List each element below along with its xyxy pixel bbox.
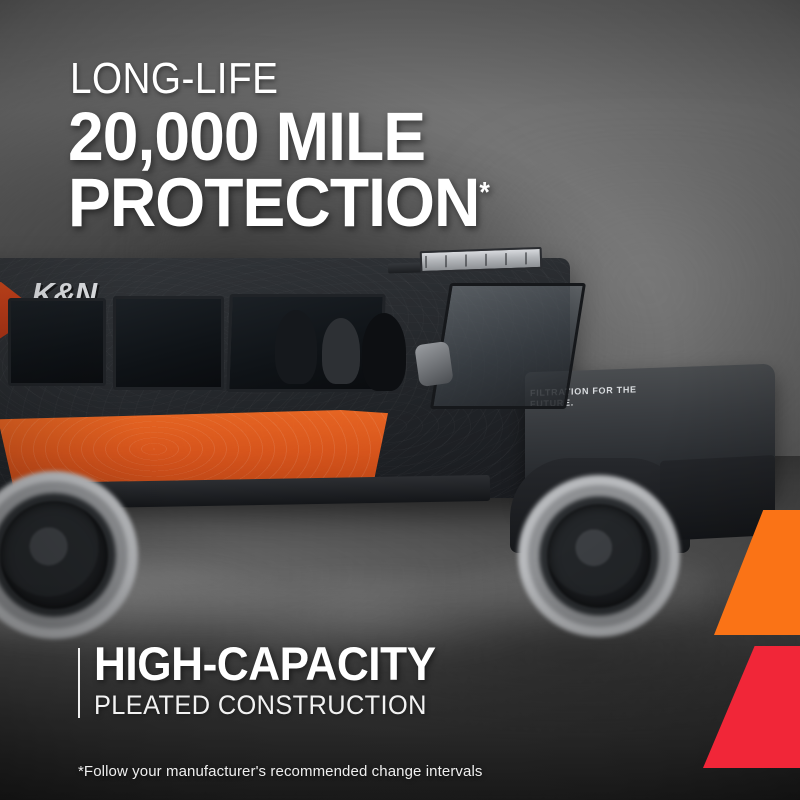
text-overlay: LONG-LIFE 20,000 MILE PROTECTION* HIGH-C…: [0, 0, 800, 800]
subhead-primary: HIGH-CAPACITY: [94, 640, 436, 687]
headline-line-1: 20,000 MILE: [68, 104, 490, 170]
headline: 20,000 MILE PROTECTION*: [68, 104, 490, 236]
headline-line-2: PROTECTION*: [68, 170, 490, 236]
advertisement-banner: K&N 1969 FILTRATION FOR THE FUTURE.: [0, 0, 800, 800]
subhead-secondary: PLEATED CONSTRUCTION: [94, 692, 436, 719]
headline-asterisk: *: [479, 177, 489, 209]
footnote-text: *Follow your manufacturer's recommended …: [78, 763, 482, 780]
subhead-divider-rule: [78, 648, 80, 718]
subhead-block: HIGH-CAPACITY PLEATED CONSTRUCTION: [94, 640, 457, 719]
eyebrow-text: LONG-LIFE: [70, 57, 278, 101]
headline-line-2-text: PROTECTION: [68, 164, 479, 241]
